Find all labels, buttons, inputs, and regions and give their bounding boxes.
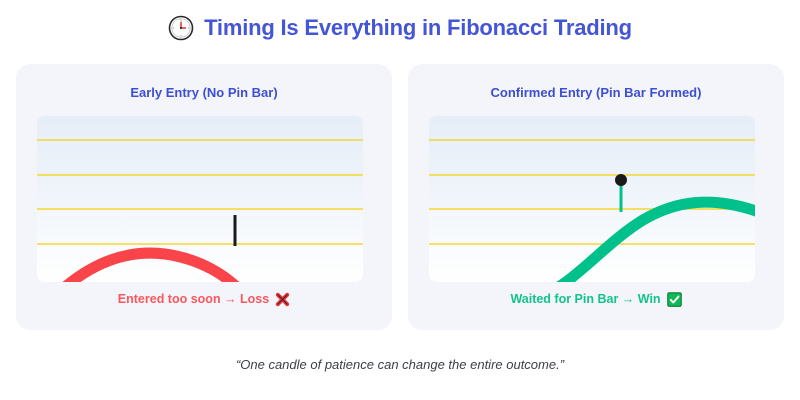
chart-early-entry	[37, 116, 363, 282]
caption-text-win: Waited for Pin Bar → Win	[510, 293, 660, 306]
infographic-root: Timing Is Everything in Fibonacci Tradin…	[0, 0, 800, 400]
price-curve-win	[547, 202, 755, 282]
clock-icon	[168, 15, 194, 41]
cross-mark-icon	[275, 292, 290, 307]
price-curve-loss	[55, 253, 247, 282]
panel-title-confirmed-entry: Confirmed Entry (Pin Bar Formed)	[408, 86, 784, 99]
fib-level-lines-right	[429, 140, 755, 244]
caption-early-entry: Entered too soon → Loss	[16, 292, 392, 307]
panel-confirmed-entry[interactable]: Confirmed Entry (Pin Bar Formed) Waited …	[408, 64, 784, 330]
footer-quote: “One candle of patience can change the e…	[0, 358, 800, 371]
caption-text-loss: Entered too soon → Loss	[118, 293, 269, 306]
panel-title-early-entry: Early Entry (No Pin Bar)	[16, 86, 392, 99]
fib-level-lines-left	[37, 140, 363, 244]
panels-container: Early Entry (No Pin Bar) Entered too soo…	[16, 64, 784, 330]
panel-early-entry[interactable]: Early Entry (No Pin Bar) Entered too soo…	[16, 64, 392, 330]
header: Timing Is Everything in Fibonacci Tradin…	[0, 8, 800, 48]
chart-svg-early-entry	[37, 116, 363, 282]
caption-confirmed-entry: Waited for Pin Bar → Win	[408, 292, 784, 307]
pin-bar-dot-icon	[615, 174, 627, 186]
page-title: Timing Is Everything in Fibonacci Tradin…	[204, 17, 632, 39]
check-mark-button-icon	[667, 292, 682, 307]
chart-confirmed-entry	[429, 116, 755, 282]
chart-svg-confirmed-entry	[429, 116, 755, 282]
